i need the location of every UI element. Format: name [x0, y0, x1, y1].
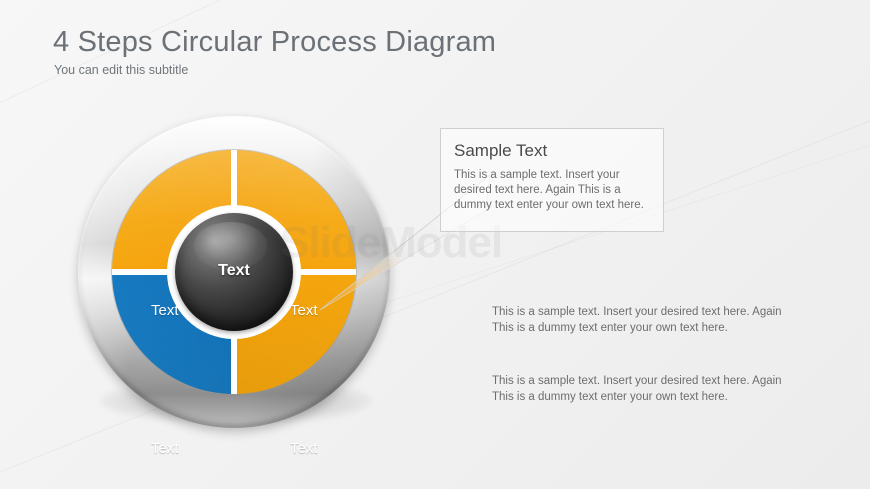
quadrant-label-top-left: Text [151, 302, 179, 319]
circular-process-diagram[interactable]: Text Text Text Text Text [72, 110, 396, 434]
slide-canvas: 4 Steps Circular Process Diagram You can… [0, 0, 870, 489]
description-paragraph-2: This is a sample text. Insert your desir… [492, 374, 792, 405]
description-paragraph-1: This is a sample text. Insert your desir… [492, 305, 792, 336]
callout-body: This is a sample text. Insert your desir… [454, 168, 649, 213]
center-label: Text [175, 262, 293, 280]
sample-text-callout-box[interactable]: Sample Text This is a sample text. Inser… [440, 128, 664, 232]
callout-heading: Sample Text [454, 141, 649, 161]
quadrant-label-top-right: Text [290, 302, 318, 319]
page-title: 4 Steps Circular Process Diagram [53, 25, 496, 59]
quadrant-label-bottom-right: Text [290, 440, 318, 457]
slide-header: 4 Steps Circular Process Diagram You can… [53, 25, 496, 78]
center-sphere[interactable]: Text [175, 213, 293, 331]
quadrant-label-bottom-left: Text [151, 440, 179, 457]
page-subtitle: You can edit this subtitle [54, 62, 496, 78]
center-white-ring: Text [167, 205, 301, 339]
